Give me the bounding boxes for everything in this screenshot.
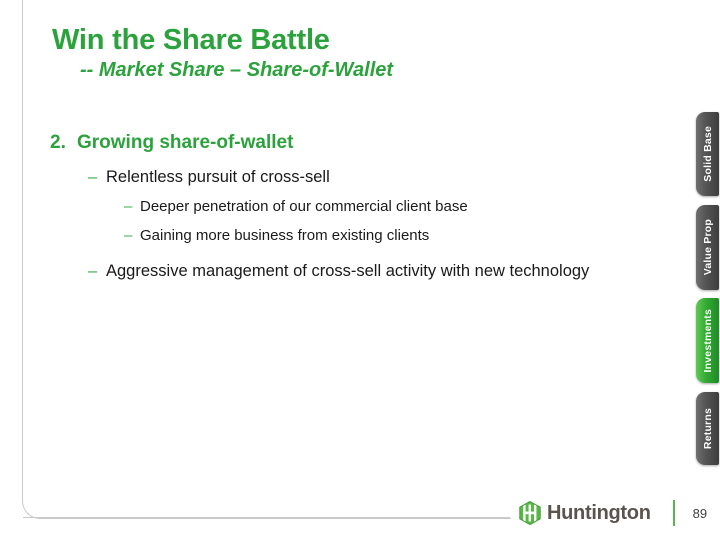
page-title: Win the Share Battle [52, 24, 652, 56]
outline-item-level2: – Aggressive management of cross-sell ac… [88, 261, 650, 281]
footer: Huntington 89 [519, 499, 707, 527]
sidebar-item-investments[interactable]: Investments [696, 298, 719, 383]
huntington-hexagon-logo-icon [519, 501, 541, 525]
body-outline: 2. Growing share-of-wallet – Relentless … [50, 131, 650, 282]
outline-item-text: Relentless pursuit of cross-sell [106, 167, 330, 187]
outline-item-text: Growing share-of-wallet [77, 131, 293, 155]
bullet-dash-icon: – [88, 261, 106, 281]
footer-divider [673, 500, 675, 526]
page-number: 89 [693, 506, 707, 521]
side-tab-label: Investments [702, 309, 714, 372]
bullet-dash-icon: – [88, 167, 106, 187]
outline-item-level2: – Relentless pursuit of cross-sell [88, 167, 650, 187]
side-tab-label: Value Prop [702, 219, 714, 275]
side-tab-label: Returns [702, 408, 714, 449]
outline-item-level3: – Deeper penetration of our commercial c… [124, 198, 650, 216]
bullet-dash-icon: – [124, 227, 140, 245]
sidebar-item-solid-base[interactable]: Solid Base [696, 112, 719, 196]
outline-item-level3: – Gaining more business from existing cl… [124, 227, 650, 245]
sidebar-item-returns[interactable]: Returns [696, 392, 719, 465]
outline-item-number: 2. [50, 131, 77, 155]
outline-item-text: Deeper penetration of our commercial cli… [140, 198, 468, 216]
page-subtitle: -- Market Share – Share-of-Wallet [80, 59, 652, 82]
brand-name: Huntington [547, 502, 651, 525]
title-block: Win the Share Battle -- Market Share – S… [52, 24, 652, 82]
outline-item-level1: 2. Growing share-of-wallet [50, 131, 650, 155]
footer-rule [23, 517, 510, 518]
sidebar-item-value-prop[interactable]: Value Prop [696, 205, 719, 290]
outline-item-text: Gaining more business from existing clie… [140, 227, 429, 245]
side-tab-strip: Solid Base Value Prop Investments Return… [696, 0, 720, 540]
bullet-dash-icon: – [124, 198, 140, 216]
side-tab-label: Solid Base [702, 126, 714, 182]
outline-item-text: Aggressive management of cross-sell acti… [106, 261, 589, 281]
